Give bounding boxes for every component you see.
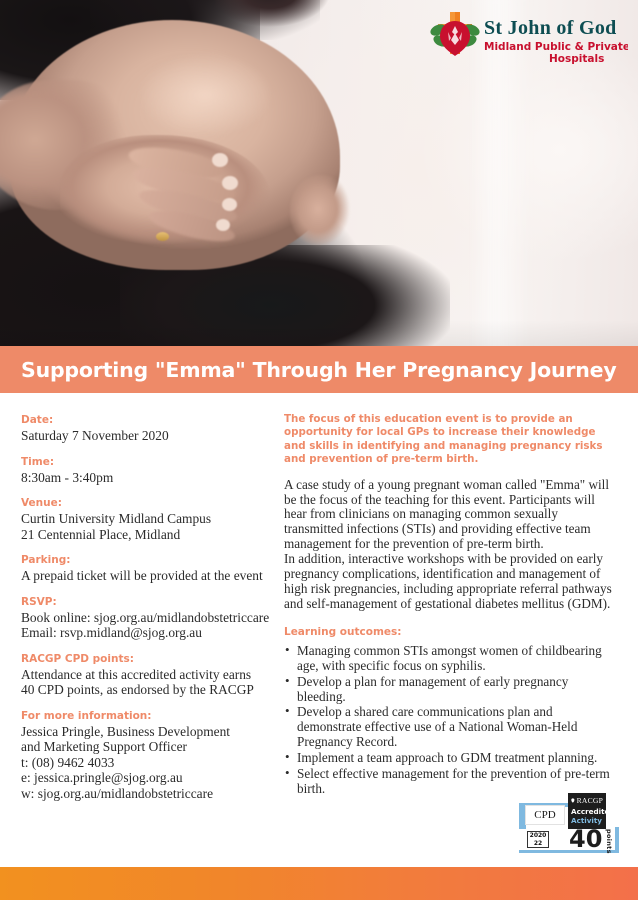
detail-value-time: 8:30am - 3:40pm <box>21 470 276 486</box>
st-john-of-god-logo: St John of God Midland Public & Private … <box>428 8 628 70</box>
detail-value-venue-line2: 21 Centennial Place, Midland <box>21 527 276 543</box>
detail-value-date: Saturday 7 November 2020 <box>21 428 276 444</box>
racgp-accreditation-badge: CPD 2020 22 RACGP Accredited Activity 40… <box>519 791 619 853</box>
racgp-crest-icon <box>571 796 575 805</box>
detail-label-parking: Parking: <box>21 553 276 568</box>
detail-value-parking: A prepaid ticket will be provided at the… <box>21 568 276 584</box>
badge-points-label: points <box>605 829 613 854</box>
badge-black-panel: RACGP Accredited Activity <box>568 793 606 829</box>
badge-cpd-label: CPD <box>525 805 565 825</box>
detail-value-venue-line1: Curtin University Midland Campus <box>21 511 276 527</box>
detail-value-cpd-line2: 40 CPD points, as endorsed by the RACGP <box>21 682 276 698</box>
event-flyer: St John of God Midland Public & Private … <box>0 0 638 900</box>
detail-label-rsvp: RSVP: <box>21 595 276 610</box>
badge-year-bottom: 22 <box>534 840 542 848</box>
badge-year-top: 2020 <box>530 832 547 840</box>
page-title: Supporting "Emma" Through Her Pregnancy … <box>0 358 617 382</box>
logo-wordmark-line3: Hospitals <box>549 53 604 65</box>
hero-fingernail <box>216 219 230 231</box>
detail-label-cpd-points: RACGP CPD points: <box>21 652 276 667</box>
detail-block-parking: Parking: A prepaid ticket will be provid… <box>21 553 276 584</box>
list-item: Develop a plan for management of early p… <box>284 675 617 705</box>
hero-fingernail <box>212 153 228 167</box>
list-item: Implement a team approach to GDM treatme… <box>284 751 617 766</box>
hero-second-hand <box>290 175 350 245</box>
detail-block-rsvp: RSVP: Book online: sjog.org.au/midlandob… <box>21 595 276 641</box>
hero-ring <box>156 232 169 241</box>
event-details-column: Date: Saturday 7 November 2020 Time: 8:3… <box>21 413 276 801</box>
detail-label-time: Time: <box>21 455 276 470</box>
contact-phone[interactable]: t: (08) 9462 4033 <box>21 755 276 771</box>
badge-points-number: 40 <box>569 827 602 851</box>
badge-year-box: 2020 22 <box>527 831 549 848</box>
badge-blue-right-bar <box>615 827 619 853</box>
logo-svg: St John of God Midland Public & Private … <box>428 8 628 70</box>
hero-fingernail <box>222 198 237 211</box>
event-paragraph-2: In addition, interactive workshops with … <box>284 552 617 612</box>
contact-website[interactable]: w: sjog.org.au/midlandobstetriccare <box>21 786 276 802</box>
detail-block-date: Date: Saturday 7 November 2020 <box>21 413 276 444</box>
hero-bottom-shade <box>0 320 638 346</box>
rsvp-email-link[interactable]: Email: rsvp.midland@sjog.org.au <box>21 625 276 641</box>
contact-name-line1: Jessica Pringle, Business Development <box>21 724 276 740</box>
list-item: Develop a shared care communications pla… <box>284 705 617 750</box>
detail-label-venue: Venue: <box>21 496 276 511</box>
heart-icon <box>440 21 470 56</box>
hero-fingernail <box>222 176 238 190</box>
badge-org-label: RACGP <box>577 796 603 805</box>
badge-org-row: RACGP <box>571 796 603 805</box>
logo-wordmark-line1: St John of God <box>484 17 617 39</box>
event-intro-text: The focus of this education event is to … <box>284 413 617 467</box>
list-item: Managing common STIs amongst women of ch… <box>284 644 617 674</box>
detail-block-cpd-points: RACGP CPD points: Attendance at this acc… <box>21 652 276 698</box>
event-paragraph-1: A case study of a young pregnant woman c… <box>284 478 617 553</box>
detail-block-more-information: For more information: Jessica Pringle, B… <box>21 709 276 802</box>
title-banner: Supporting "Emma" Through Her Pregnancy … <box>0 346 638 393</box>
contact-email[interactable]: e: jessica.pringle@sjog.org.au <box>21 770 276 786</box>
detail-block-time: Time: 8:30am - 3:40pm <box>21 455 276 486</box>
footer-gradient-bar <box>0 867 638 900</box>
contact-name-line2: and Marketing Support Officer <box>21 739 276 755</box>
detail-value-cpd-line1: Attendance at this accredited activity e… <box>21 667 276 683</box>
detail-label-more-information: For more information: <box>21 709 276 724</box>
logo-wordmark-line2: Midland Public & Private <box>484 41 628 53</box>
rsvp-booking-link[interactable]: Book online: sjog.org.au/midlandobstetri… <box>21 610 276 626</box>
description-column: The focus of this education event is to … <box>284 413 617 798</box>
detail-block-venue: Venue: Curtin University Midland Campus … <box>21 496 276 542</box>
detail-label-date: Date: <box>21 413 276 428</box>
learning-outcomes-list: Managing common STIs amongst women of ch… <box>284 644 617 797</box>
badge-activity-label: Activity <box>571 817 603 826</box>
learning-outcomes-heading: Learning outcomes: <box>284 626 617 638</box>
